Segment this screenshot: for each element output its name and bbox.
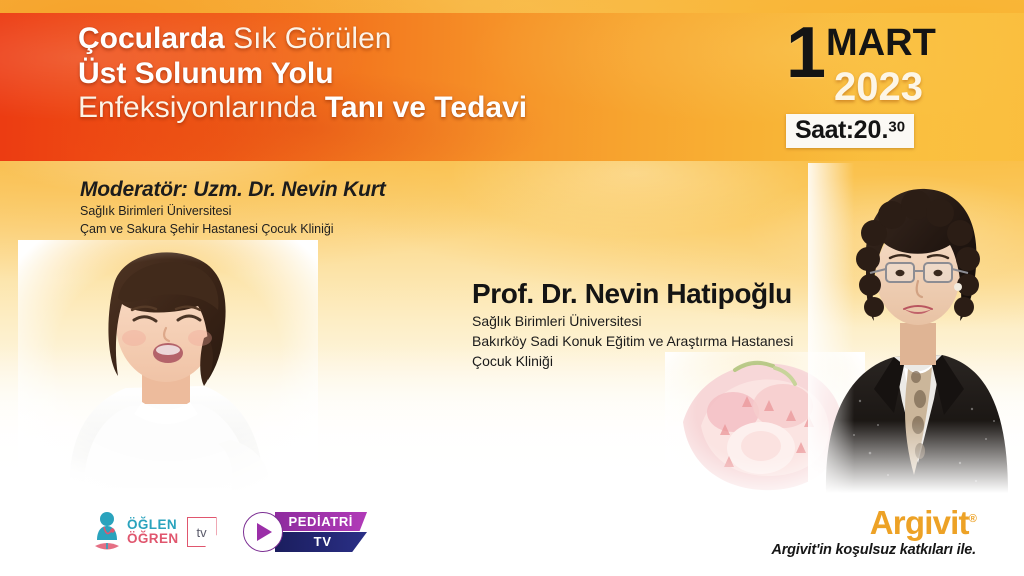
partner-logos: ÖĞLEN ÖĞREN tv PEDİATRİ TV <box>92 510 367 554</box>
speaker-name: Prof. Dr. Nevin Hatipoğlu <box>472 278 793 310</box>
moderator-affiliation-1: Sağlık Birimleri Üniversitesi <box>80 202 386 220</box>
title-line-1-bold: Çocularda <box>78 22 225 55</box>
title-line-3-bold: Tanı ve Tedavi <box>325 91 527 124</box>
oglen-tv-chip: tv <box>187 517 217 547</box>
pediatri-word-line1: PEDİATRİ <box>275 512 368 531</box>
event-date-block: 1 MART 2023 Saat:20.30 <box>786 22 966 148</box>
speaker-block: Prof. Dr. Nevin Hatipoğlu Sağlık Birimle… <box>472 278 793 372</box>
speaker-affiliation-1: Sağlık Birimleri Üniversitesi <box>472 312 793 332</box>
time-label: Saat: <box>795 116 854 144</box>
title-line-2: Üst Solunum Yolu <box>78 59 527 90</box>
moderator-affiliation-2: Çam ve Sakura Şehir Hastanesi Çocuk Klin… <box>80 220 386 238</box>
moderator-name: Moderatör: Uzm. Dr. Nevin Kurt <box>80 178 386 202</box>
pediatri-wordmark: PEDİATRİ TV <box>275 512 368 552</box>
argivit-word-text: Argivit <box>870 504 969 541</box>
title-line-3: Enfeksiyonlarında Tanı ve Tedavi <box>78 93 527 124</box>
moderator-block: Moderatör: Uzm. Dr. Nevin Kurt Sağlık Bi… <box>80 178 386 238</box>
title-line-1-light: Sık Görülen <box>233 22 391 55</box>
oglen-word-bottom: ÖĞREN <box>127 532 179 546</box>
argivit-wordmark: Argivit® <box>870 506 976 539</box>
pediatri-word-line2: TV <box>275 532 368 552</box>
oglen-ogren-tv-logo[interactable]: ÖĞLEN ÖĞREN tv <box>92 510 217 554</box>
oglen-ogren-wordmark: ÖĞLEN ÖĞREN <box>127 518 179 546</box>
oglen-doctor-icon <box>92 510 122 554</box>
webinar-poster: Çocularda Sık Görülen Üst Solunum Yolu E… <box>0 0 1024 576</box>
argivit-sponsor-block[interactable]: Argivit® Argivit'in koşulsuz katkıları i… <box>771 506 976 558</box>
child-photo <box>18 240 318 490</box>
time-minute: 30 <box>888 119 905 136</box>
title-line-1: Çocularda Sık Görülen <box>78 24 527 55</box>
pediatri-tv-logo[interactable]: PEDİATRİ TV <box>243 512 368 552</box>
speaker-affiliation-3: Çocuk Kliniği <box>472 352 793 372</box>
date-day: 1 <box>786 22 824 85</box>
title-line-3-light: Enfeksiyonlarında <box>78 91 316 124</box>
speaker-portrait-photo <box>808 163 1018 493</box>
pediatri-play-circle <box>243 512 283 552</box>
argivit-tagline: Argivit'in koşulsuz katkıları ile. <box>771 542 976 558</box>
time-hour: 20. <box>854 116 889 144</box>
oglen-word-top: ÖĞLEN <box>127 518 179 532</box>
poster-title: Çocularda Sık Görülen Üst Solunum Yolu E… <box>78 24 527 124</box>
date-year: 2023 <box>834 65 966 110</box>
title-line-2-bold: Üst Solunum Yolu <box>78 57 334 90</box>
speaker-affiliation-2: Bakırköy Sadi Konuk Eğitim ve Araştırma … <box>472 332 793 352</box>
event-time-box: Saat:20.30 <box>786 114 914 148</box>
play-icon <box>257 523 272 541</box>
date-month: MART <box>826 27 936 60</box>
registered-trademark-icon: ® <box>969 513 976 525</box>
